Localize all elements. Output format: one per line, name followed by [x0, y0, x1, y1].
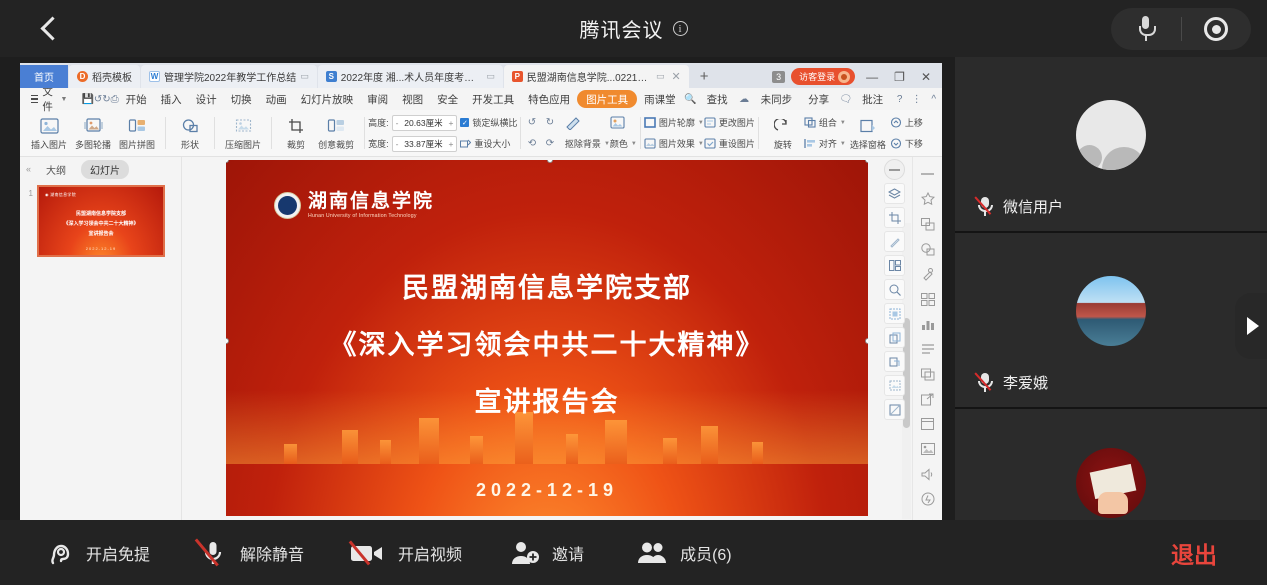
microphone-muted-icon [977, 373, 994, 392]
ribbon-group-shape: 形状 [169, 110, 211, 156]
ai-star-icon[interactable] [919, 190, 937, 208]
smart-graphic-button[interactable] [884, 303, 905, 324]
creative-crop-icon [327, 116, 346, 137]
menu-item-transition[interactable]: 切换 [224, 92, 259, 107]
align-row[interactable]: 对齐 ▼ [804, 134, 846, 153]
undo-icon[interactable]: ↺ [94, 93, 102, 106]
university-logo: 湖南信息学院 Hunan University of Information T… [274, 192, 434, 219]
cloud-icon: ▭ [486, 71, 495, 82]
members-button[interactable]: 成员(6) [636, 538, 732, 568]
slide-float-toolbar [883, 159, 906, 420]
thumb-logo: ◉ 湖南信息学院 [45, 192, 76, 198]
picture-fill-button[interactable] [884, 375, 905, 396]
logo-text-cn: 湖南信息学院 [308, 192, 434, 211]
members-icon [636, 538, 670, 568]
picture-outline-label: 图片轮廓 [659, 116, 695, 129]
reset-size-button[interactable]: 重设大小 [460, 137, 510, 150]
send-backward-label: 下移 [905, 137, 923, 150]
tabbar-right-controls: 3 访客登录 — ❐ ✕ [772, 65, 942, 88]
remove-background-label: 抠除背景 [565, 137, 601, 150]
picture-outline-row[interactable]: 图片轮廓 ▼ [644, 113, 704, 132]
height-stepper[interactable]: - 20.63厘米 + [392, 115, 458, 131]
align-icon [804, 138, 816, 149]
selection-handle[interactable] [226, 160, 229, 163]
sync-icon[interactable]: ☁ [737, 93, 752, 106]
creative-crop-button[interactable]: 创意裁剪 [314, 116, 358, 151]
back-button[interactable] [22, 0, 82, 57]
tab-label: 2022年度 湘...术人员年度考核表 [341, 69, 482, 84]
search-icon[interactable]: 🔍 [683, 93, 698, 106]
slide-title-line-3: 宣讲报告会 [226, 380, 868, 419]
button-label: 形状 [181, 138, 199, 151]
menu-item-picture-tools[interactable]: 图片工具 [577, 90, 637, 108]
button-label: 图片拼图 [119, 138, 155, 151]
picture-carousel-button[interactable]: 多图轮播 [71, 116, 115, 151]
chevron-down-icon: ▼ [631, 141, 637, 147]
record-icon [1204, 17, 1228, 41]
slide-number: 1 [24, 185, 33, 520]
layout-button[interactable] [884, 255, 905, 276]
generic-avatar [1076, 100, 1146, 170]
search-label[interactable]: 查找 [700, 92, 735, 107]
group-label: 组合 [819, 116, 837, 129]
stepper-plus[interactable]: + [445, 118, 456, 128]
send-backward-row[interactable]: 下移 [890, 134, 923, 153]
flip-vertical-icon[interactable]: ⟳ [542, 137, 557, 150]
selection-handle[interactable] [865, 338, 868, 344]
ribbon-group-style: 图片轮廓 ▼ 图片效果 ▼ [644, 111, 704, 155]
lock-aspect-ratio-checkbox[interactable]: ✓ 锁定纵横比 [460, 116, 517, 129]
tab-count-badge[interactable]: 3 [772, 71, 785, 83]
button-label: 开启视频 [398, 541, 462, 565]
card-avatar [1076, 448, 1146, 518]
zoom-button[interactable] [884, 279, 905, 300]
slide-title-line-2: 《深入学习领会中共二十大精神》 [226, 323, 868, 362]
participants-panel: 微信用户 李爱娥 [955, 57, 1267, 520]
reset-size-icon [460, 139, 471, 149]
color-icon [610, 116, 626, 130]
rotate-button[interactable]: 旋转 [765, 116, 801, 151]
change-picture-label: 更改图片 [719, 116, 755, 129]
duplicate-button[interactable] [884, 327, 905, 348]
button-label: 邀请 [552, 541, 584, 565]
photo-avatar [1076, 276, 1146, 346]
tab-label: 民盟湖南信息学院...0221219) [527, 69, 652, 84]
reset-picture-label: 重设图片 [719, 137, 755, 150]
ribbon-group-insert: 插入图片 多图轮播 图片拼图 [24, 110, 162, 156]
shape-fill-button[interactable] [884, 399, 905, 420]
wps-tab-home[interactable]: 首页 [20, 65, 68, 88]
rotate-icon [774, 116, 792, 137]
picture-carousel-icon [84, 116, 103, 137]
reset-picture-row[interactable]: 重设图片 [704, 134, 755, 153]
top-right-controls [1111, 8, 1251, 50]
menu-right-group: 🔍 查找 ☁ 未同步 分享 🗨 批注 ? ⋮ ^ [683, 92, 942, 107]
collapse-left-icon[interactable]: « [26, 164, 31, 174]
slide-canvas-area: 湖南信息学院 Hunan University of Information T… [182, 157, 912, 520]
share-button[interactable]: 分享 [801, 92, 836, 107]
more-icon[interactable]: ⋮ [909, 93, 924, 106]
thumb-title-1: 民盟湖南信息学院支部 [39, 209, 163, 219]
compress-picture-button[interactable]: 压缩图片 [221, 116, 265, 151]
university-seal-icon [274, 192, 301, 219]
ribbon-group-size: 高度: - 20.63厘米 + ✓ 锁定纵横比 宽度: - 33.87厘米 + [368, 111, 517, 155]
selection-pane-icon [859, 116, 877, 137]
picture-collage-icon [128, 116, 147, 137]
window-close-button[interactable]: ✕ [916, 70, 936, 84]
chevron-left-icon [40, 16, 64, 40]
wps-workspace: « 大纲 幻灯片 1 ◉ 湖南信息学院 民盟湖南信息学院支部 《深入学习领会中共… [20, 157, 942, 520]
participant-name: 李爱娥 [1003, 372, 1048, 393]
button-label: 选择窗格 [850, 138, 886, 151]
slide-date: 2022-12-19 [226, 480, 868, 501]
media-icon[interactable] [919, 365, 937, 383]
rotate-row-bottom: ⟲ ⟳ [524, 134, 565, 153]
color-label: 颜色 [610, 137, 628, 150]
slide-panel-header: « 大纲 幻灯片 [20, 157, 181, 181]
wps-sheet-icon: S [326, 71, 337, 82]
wps-writer-icon: W [149, 71, 160, 82]
tab-outline[interactable]: 大纲 [37, 160, 75, 179]
sync-status-label[interactable]: 未同步 [754, 92, 800, 107]
save-icon[interactable]: 💾 [81, 93, 93, 106]
send-backward-icon [890, 138, 902, 149]
group-row[interactable]: 组合 ▼ [804, 113, 846, 132]
shape-icon [181, 116, 200, 137]
remove-bg-label-row[interactable]: 抠除背景 ▼ [565, 134, 610, 153]
expand-right-arrow-icon [1247, 317, 1259, 335]
chevron-down-icon: ▼ [61, 96, 68, 103]
participant-tile-2[interactable]: 李爱娥 [955, 233, 1267, 409]
settings-icon[interactable] [919, 490, 937, 508]
audio-icon[interactable] [919, 465, 937, 483]
meeting-title-group: 腾讯会议 i [0, 0, 1267, 57]
list-icon[interactable] [919, 340, 937, 358]
microphone-muted-icon [196, 538, 230, 568]
microphone-icon [1139, 16, 1152, 42]
menu-item-start[interactable]: 开始 [119, 92, 154, 107]
button-label: 裁剪 [287, 138, 305, 151]
meeting-bottom-toolbar: 开启免提 解除静音 开启视频 [0, 520, 1267, 585]
picture-effects-row[interactable]: 图片效果 ▼ [644, 134, 704, 153]
wps-right-sidebar [912, 157, 942, 520]
wps-tab-document-1[interactable]: W 管理学院2022年教学工作总结 ▭ [141, 65, 317, 88]
wps-menu-bar: 文件 ▼ 💾 ↺ ↻ ⎙ 开始 插入 设计 切换 动画 幻灯片放映 审阅 视图 … [20, 88, 942, 110]
lock-aspect-label: 锁定纵横比 [472, 116, 517, 129]
stepper-minus[interactable]: - [393, 139, 402, 149]
new-tab-button[interactable]: + [690, 65, 719, 88]
expand-panel-button[interactable] [1235, 293, 1267, 359]
picture-effects-label: 图片效果 [659, 137, 695, 150]
print-preview-icon[interactable]: ⎙ [111, 93, 119, 106]
flip-horizontal-icon[interactable]: ⟲ [524, 137, 539, 150]
menu-item-developer-tools[interactable]: 开发工具 [465, 92, 521, 107]
menu-item-insert[interactable]: 插入 [154, 92, 189, 107]
group-icon [804, 117, 816, 128]
tab-slides[interactable]: 幻灯片 [81, 160, 129, 179]
button-label: 压缩图片 [225, 138, 261, 151]
image-icon[interactable] [919, 440, 937, 458]
chevron-up-icon[interactable]: ^ [926, 93, 941, 106]
wps-ribbon-picture-tools: 插入图片 多图轮播 图片拼图 形状 [20, 110, 942, 157]
divider [520, 117, 521, 149]
wps-office-window: 首页 D 稻壳模板 W 管理学院2022年教学工作总结 ▭ S 2022年度 湘… [20, 63, 942, 520]
slide-thumbnail-1[interactable]: ◉ 湖南信息学院 民盟湖南信息学院支部 《深入学习领会中共二十大精神》 宣讲报告… [37, 185, 165, 257]
ribbon-group-adjust: ↺ ↻ x ⟲ ⟳ [524, 111, 565, 155]
chart-icon[interactable] [919, 315, 937, 333]
align-label: 对齐 [819, 137, 837, 150]
wps-tab-document-2[interactable]: S 2022年度 湘...术人员年度考核表 ▭ [318, 65, 503, 88]
picture-outline-icon [644, 117, 656, 128]
remove-background-icon [565, 116, 581, 130]
layers-button[interactable] [884, 183, 905, 204]
ribbon-group-group-align: 组合 ▼ 对齐 ▼ [804, 111, 846, 155]
bring-forward-row[interactable]: 上移 [890, 113, 923, 132]
crop-button[interactable]: 裁剪 [278, 116, 314, 151]
button-label: 开启免提 [86, 541, 150, 565]
minimize-toolbar-button[interactable] [884, 159, 905, 180]
stepper-minus[interactable]: - [393, 118, 402, 128]
slide-title-block: 民盟湖南信息学院支部 《深入学习领会中共二十大精神》 宣讲报告会 [226, 266, 868, 419]
menu-item-featured-apps[interactable]: 特色应用 [521, 92, 577, 107]
insert-picture-button[interactable]: 插入图片 [27, 116, 71, 151]
speaker-ear-icon [42, 538, 76, 568]
docer-icon: D [77, 71, 88, 82]
cloud-icon: ▭ [656, 71, 665, 82]
ribbon-group-change: 更改图片 重设图片 [704, 111, 755, 155]
mic-toggle-button[interactable] [1111, 8, 1181, 50]
stepper-plus[interactable]: + [445, 139, 456, 149]
picture-collage-button[interactable]: 图片拼图 [115, 116, 159, 151]
divider [214, 117, 215, 149]
width-value[interactable]: 33.87厘米 [401, 138, 445, 150]
participant-name: 微信用户 [1003, 196, 1063, 217]
more-menu-icon[interactable] [919, 165, 937, 183]
hamburger-icon [31, 93, 38, 105]
start-video-button[interactable]: 开启视频 [348, 538, 462, 568]
ribbon-group-color: 颜色 ▼ [610, 111, 637, 155]
bring-forward-icon [890, 117, 902, 128]
participant-tile-1[interactable]: 微信用户 [955, 57, 1267, 233]
invite-person-icon [508, 538, 542, 568]
height-value[interactable]: 20.63厘米 [401, 117, 445, 129]
comment-button[interactable]: 批注 [855, 92, 890, 107]
help-icon[interactable]: ? [892, 93, 907, 106]
info-icon[interactable]: i [673, 21, 688, 36]
height-row: 高度: - 20.63厘米 + ✓ 锁定纵横比 [368, 113, 517, 132]
rotate-row-top: ↺ ↻ x [524, 113, 565, 132]
ribbon-group-arrange: 旋转 [762, 110, 804, 156]
redo-icon[interactable]: ↻ [102, 93, 110, 106]
exit-meeting-button[interactable]: 退出 [1171, 536, 1217, 570]
height-label: 高度: [368, 116, 389, 129]
divider [758, 117, 759, 149]
tab-label: 管理学院2022年教学工作总结 [164, 69, 296, 84]
microphone-muted-icon [977, 197, 994, 216]
cloud-icon: ▭ [300, 71, 309, 82]
slide-canvas[interactable]: 湖南信息学院 Hunan University of Information T… [226, 160, 868, 516]
shape-button[interactable]: 形状 [172, 116, 208, 151]
thumb-title-3: 宣讲报告会 [39, 229, 163, 239]
menu-item-slideshow[interactable]: 幻灯片放映 [294, 92, 361, 107]
divider [640, 117, 641, 149]
eyedropper-button[interactable] [884, 231, 905, 252]
window-maximize-button[interactable]: ❐ [889, 70, 910, 84]
thumb-title: 民盟湖南信息学院支部 《深入学习领会中共二十大精神》 宣讲报告会 [39, 209, 163, 239]
button-label: 解除静音 [240, 541, 304, 565]
width-stepper[interactable]: - 33.87厘米 + [392, 136, 458, 152]
bring-forward-label: 上移 [905, 116, 923, 129]
ribbon-group-bg-color: 抠除背景 ▼ [565, 111, 610, 155]
participant-name-row: 李爱娥 [977, 372, 1048, 393]
ribbon-group-crop: 裁剪 创意裁剪 [275, 110, 361, 156]
rotate-left-icon[interactable]: ↺ [524, 116, 539, 129]
remove-bg-row [565, 113, 610, 132]
window-minimize-button[interactable]: — [861, 70, 883, 84]
compress-picture-icon [234, 116, 253, 137]
width-row: 宽度: - 33.87厘米 + 重设大小 [368, 134, 517, 153]
menu-item-animation[interactable]: 动画 [259, 92, 294, 107]
menu-item-review[interactable]: 审阅 [360, 92, 395, 107]
copy-style-button[interactable] [884, 351, 905, 372]
meeting-top-bar: 腾讯会议 i [0, 0, 1267, 57]
checkbox-icon: ✓ [460, 118, 469, 127]
export-icon[interactable] [919, 390, 937, 408]
thumb-title-2: 《深入学习领会中共二十大精神》 [39, 219, 163, 229]
button-label: 创意裁剪 [318, 138, 354, 151]
menu-item-rain-classroom[interactable]: 雨课堂 [637, 92, 683, 107]
frame-icon[interactable] [919, 415, 937, 433]
selection-pane-button[interactable]: 选择窗格 [846, 116, 890, 151]
menu-item-view[interactable]: 视图 [395, 92, 430, 107]
slide-title-line-1: 民盟湖南信息学院支部 [226, 266, 868, 305]
picture-effects-icon [644, 138, 656, 149]
slide-list: 1 ◉ 湖南信息学院 民盟湖南信息学院支部 《深入学习领会中共二十大精神》 宣讲… [20, 181, 181, 520]
change-picture-row[interactable]: 更改图片 [704, 113, 755, 132]
close-icon[interactable]: ✕ [672, 70, 681, 83]
divider [271, 117, 272, 149]
shapes-icon[interactable] [919, 215, 937, 233]
wps-tab-docer-template[interactable]: D 稻壳模板 [69, 65, 140, 88]
avatar [838, 71, 850, 83]
comment-icon[interactable]: 🗨 [838, 93, 853, 106]
grid-icon[interactable] [919, 290, 937, 308]
divider [165, 117, 166, 149]
button-label: 多图轮播 [75, 138, 111, 151]
change-picture-icon [704, 117, 716, 128]
slide-thumbnail-panel: « 大纲 幻灯片 1 ◉ 湖南信息学院 民盟湖南信息学院支部 《深入学习领会中共… [20, 157, 182, 520]
button-label: 旋转 [774, 138, 792, 151]
tab-label: 稻壳模板 [92, 69, 132, 84]
crop-icon [287, 116, 306, 137]
wps-presentation-icon: P [512, 71, 523, 82]
wps-document-tabbar: 首页 D 稻壳模板 W 管理学院2022年教学工作总结 ▭ S 2022年度 湘… [20, 63, 942, 88]
unmute-button[interactable]: 解除静音 [196, 538, 304, 568]
ribbon-group-order: 上移 下移 [890, 111, 923, 155]
camera-muted-icon [348, 538, 388, 568]
menu-item-design[interactable]: 设计 [189, 92, 224, 107]
participant-name-row: 微信用户 [977, 196, 1063, 217]
ribbon-group-compress: 压缩图片 [218, 110, 268, 156]
reset-picture-icon [704, 138, 716, 149]
color-row [610, 113, 637, 132]
width-label: 宽度: [368, 137, 389, 150]
logo-text-en: Hunan University of Information Technolo… [308, 213, 434, 219]
thumb-date: 2022-12-19 [39, 246, 163, 251]
crop-tool-button[interactable] [884, 207, 905, 228]
ellipse-icon[interactable] [919, 240, 937, 258]
participant-tile-3[interactable] [955, 409, 1267, 520]
color-label-row[interactable]: 颜色 ▼ [610, 134, 637, 153]
invite-button[interactable]: 邀请 [508, 538, 584, 568]
selection-handle[interactable] [865, 160, 868, 163]
brush-icon[interactable] [919, 265, 937, 283]
speaker-button[interactable]: 开启免提 [42, 538, 150, 568]
selection-handle[interactable] [547, 160, 553, 163]
reset-size-label: 重设大小 [474, 137, 510, 150]
guest-login-button[interactable]: 访客登录 [791, 68, 855, 85]
button-label: 成员(6) [680, 541, 732, 565]
tab-label: 首页 [34, 69, 54, 84]
rotate-right-icon[interactable]: ↻ [542, 116, 557, 129]
divider [364, 117, 365, 149]
page-title: 腾讯会议 [580, 14, 664, 43]
record-button[interactable] [1182, 8, 1252, 50]
insert-picture-icon [40, 116, 59, 137]
wps-tab-presentation-active[interactable]: P 民盟湖南信息学院...0221219) ▭ ✕ [504, 65, 689, 88]
guest-login-label: 访客登录 [799, 70, 835, 83]
button-label: 插入图片 [31, 138, 67, 151]
menu-item-security[interactable]: 安全 [430, 92, 465, 107]
